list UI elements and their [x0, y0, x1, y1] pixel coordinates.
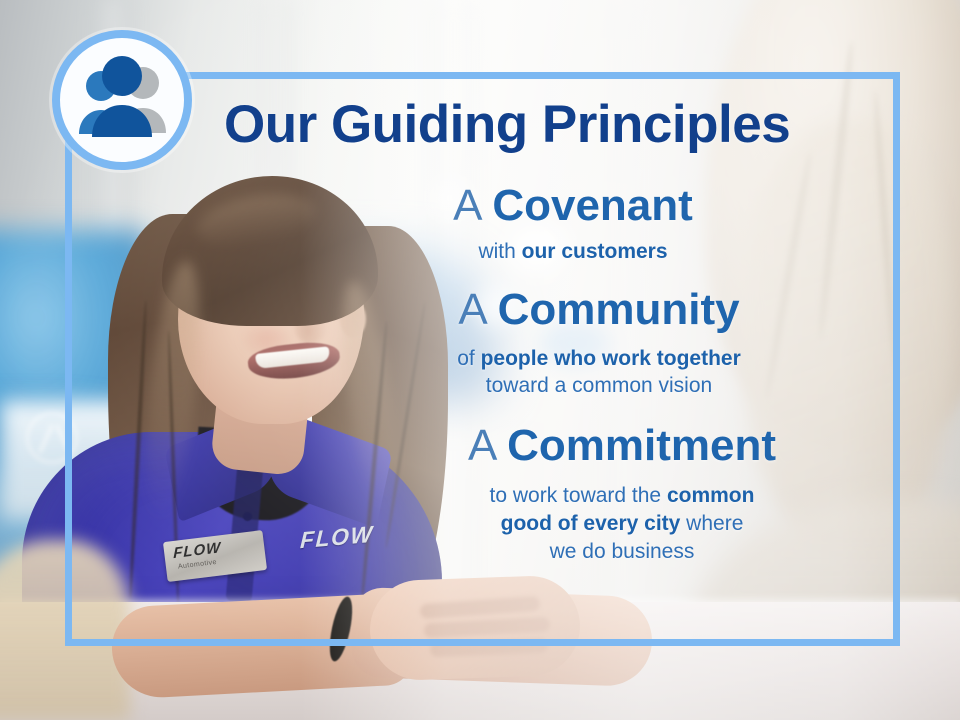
foreground-hair-wisp [0, 540, 130, 720]
subtext-emphasis: our customers [522, 240, 668, 263]
subtext-lead: of [457, 347, 480, 370]
banner-graphic: FLOW FLOW Automotive [0, 0, 960, 720]
principle-article: A [453, 181, 480, 230]
principle-keyword: Covenant [492, 181, 692, 230]
subtext-emphasis: people who work together [481, 347, 741, 370]
principle-title: A Commitment [364, 422, 880, 470]
principle-title: A Community [318, 286, 880, 334]
principle-subtext: of people who work together toward a com… [318, 345, 880, 400]
principle-keyword: Commitment [507, 421, 776, 470]
principle-community: A Community of people who work together … [318, 286, 880, 400]
subtext-tail: where [680, 512, 743, 535]
principle-commitment: A Commitment to work toward the common g… [364, 422, 880, 566]
principle-subtext: with our customers [266, 238, 880, 266]
subtext-emphasis-2: good of every city [501, 512, 681, 535]
subtext-lead: with [478, 240, 521, 263]
page-title: Our Guiding Principles [224, 94, 790, 155]
principle-article: A [458, 285, 485, 334]
principle-article: A [468, 421, 495, 470]
principle-keyword: Community [498, 285, 740, 334]
people-badge-circle [52, 30, 192, 170]
subtext-line-2: toward a common vision [486, 374, 712, 397]
subtext-line-3: we do business [550, 540, 695, 563]
principles-list: A Covenant with our customers A Communit… [300, 182, 880, 571]
subtext-emphasis: common [667, 484, 755, 507]
principle-subtext: to work toward the common good of every … [364, 482, 880, 565]
principle-title: A Covenant [266, 182, 880, 230]
principle-covenant: A Covenant with our customers [266, 182, 880, 266]
subtext-lead: to work toward the [490, 484, 667, 507]
people-group-icon [60, 38, 184, 162]
subject-polo-button [243, 512, 252, 521]
